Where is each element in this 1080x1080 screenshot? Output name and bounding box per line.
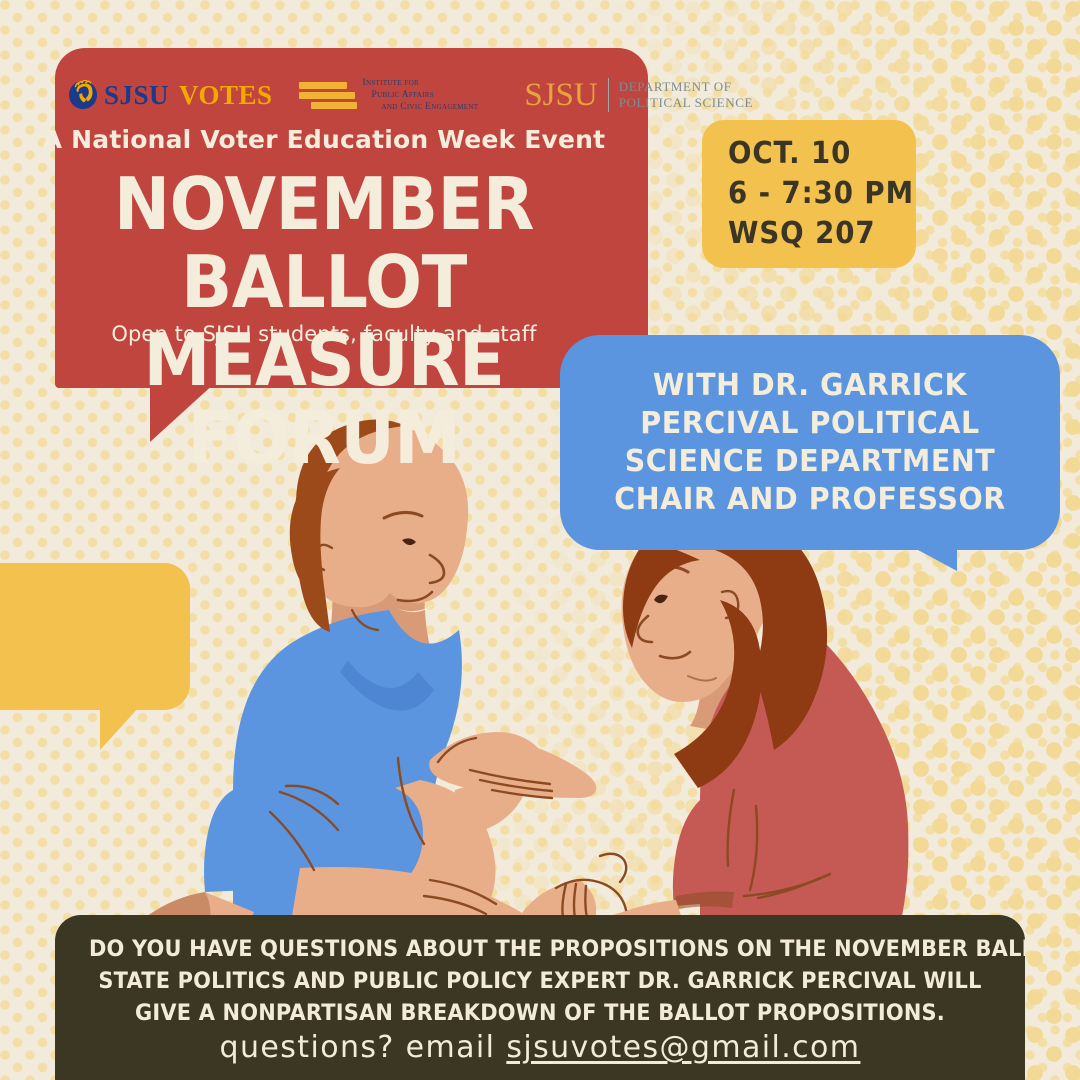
event-details-box: OCT. 10 6 - 7:30 PM WSQ 207	[702, 120, 916, 268]
polisci-line-2: POLITICAL SCIENCE	[619, 95, 753, 111]
description-text: DO YOU HAVE QUESTIONS ABOUT THE PROPOSIT…	[89, 933, 991, 1029]
logo-row: SJSU VOTES Institute for Public Affairs …	[68, 72, 648, 118]
ipace-line-2: Public Affairs	[372, 90, 479, 101]
polisci-dept-text: DEPARTMENT OF POLITICAL SCIENCE	[619, 79, 753, 111]
contact-email-link[interactable]: sjsuvotes@gmail.com	[506, 1030, 860, 1065]
ipace-logo: Institute for Public Affairs and Civic E…	[299, 78, 479, 113]
contact-prefix: questions? email	[220, 1030, 507, 1065]
event-subhead: Open to SJSU students, faculty and staff	[0, 322, 648, 346]
sjsu-votes-votes-text: VOTES	[179, 82, 273, 109]
event-date: OCT. 10	[728, 134, 901, 174]
speaker-speech-bubble: WITH DR. GARRICK PERCIVAL POLITICAL SCIE…	[560, 335, 1060, 550]
speaker-info-text: WITH DR. GARRICK PERCIVAL POLITICAL SCIE…	[606, 367, 1015, 519]
speaker-line-4: CHAIR AND PROFESSOR	[606, 481, 1015, 519]
event-time: 6 - 7:30 PM	[728, 174, 901, 214]
description-line-1: DO YOU HAVE QUESTIONS ABOUT THE PROPOSIT…	[89, 933, 991, 965]
logo-divider	[608, 78, 609, 112]
decorative-yellow-speech-bubble-tail	[100, 706, 140, 750]
spartan-helmet-icon	[68, 80, 98, 110]
speaker-line-2: PERCIVAL POLITICAL	[606, 405, 1015, 443]
speaker-bubble-tail	[905, 543, 957, 571]
man-figure	[120, 419, 596, 974]
ipace-bars-icon	[299, 82, 359, 109]
sjsu-votes-sjsu-text: SJSU	[104, 82, 169, 109]
description-line-3: GIVE A NONPARTISAN BREAKDOWN OF THE BALL…	[89, 997, 991, 1029]
speaker-line-1: WITH DR. GARRICK	[606, 367, 1015, 405]
sjsu-votes-logo: SJSU VOTES	[68, 80, 273, 110]
ipace-line-1: Institute for	[363, 78, 479, 89]
polisci-line-1: DEPARTMENT OF	[619, 79, 753, 95]
headline-line-1: NOVEMBER BALLOT	[23, 165, 626, 321]
description-line-2: STATE POLITICS AND PUBLIC POLICY EXPERT …	[89, 965, 991, 997]
ipace-logo-text: Institute for Public Affairs and Civic E…	[363, 78, 479, 113]
event-location: WSQ 207	[728, 214, 901, 254]
polisci-sjsu-text: SJSU	[524, 79, 597, 112]
political-science-dept-logo: SJSU DEPARTMENT OF POLITICAL SCIENCE	[524, 78, 753, 112]
ipace-line-3: and Civic Engagement	[382, 102, 479, 113]
woman-figure	[518, 509, 908, 967]
event-poster: SJSU VOTES Institute for Public Affairs …	[0, 0, 1080, 1080]
decorative-yellow-speech-bubble	[0, 563, 190, 710]
speaker-line-3: SCIENCE DEPARTMENT	[606, 443, 1015, 481]
page-title: NOVEMBER BALLOT MEASURE FORUM	[23, 165, 626, 477]
contact-line: questions? email sjsuvotes@gmail.com	[0, 1030, 1080, 1065]
event-kicker: A National Voter Education Week Event	[0, 125, 648, 154]
